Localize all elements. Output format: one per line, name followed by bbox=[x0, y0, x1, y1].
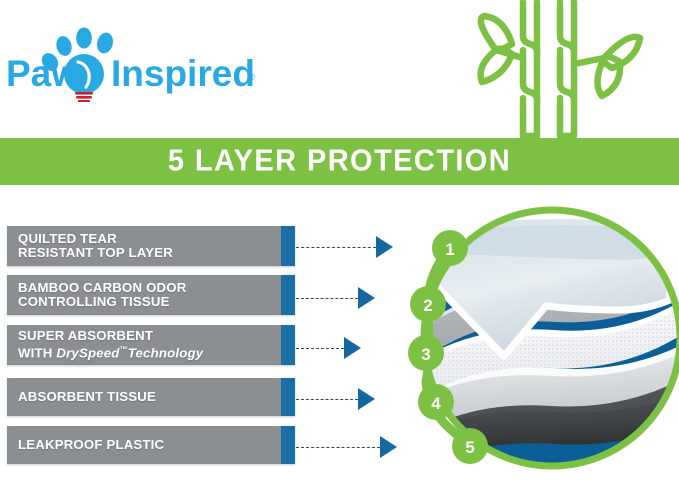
layer-label-bar-5[interactable]: LEAKPROOF PLASTIC bbox=[7, 426, 295, 464]
layer-badge-number-4: 4 bbox=[431, 394, 441, 413]
layer-label-row-1: QUILTED TEAR RESISTANT TOP LAYER bbox=[7, 226, 295, 266]
layer-label-bar-3[interactable]: SUPER ABSORBENT WITH DrySpeed™Technology bbox=[7, 325, 295, 365]
layer-label-row-4: ABSORBENT TISSUE bbox=[7, 378, 295, 416]
five-layer-cross-section: 1 2 3 4 5 bbox=[404, 196, 679, 487]
infographic-root: Paw Inspired ® bbox=[0, 0, 679, 487]
layer-label-line1-5: LEAKPROOF PLASTIC bbox=[18, 437, 164, 452]
connector-arrow-4 bbox=[358, 388, 375, 410]
layer-badge-5[interactable]: 5 bbox=[452, 428, 488, 464]
layer-label-line1-2: BAMBOO CARBON ODOR bbox=[18, 280, 186, 295]
layer-label-line2-2: CONTROLLING TISSUE bbox=[18, 294, 170, 309]
layer-badge-4[interactable]: 4 bbox=[418, 384, 454, 420]
layer-label-bar-1[interactable]: QUILTED TEAR RESISTANT TOP LAYER bbox=[7, 226, 295, 266]
connector-dash-5 bbox=[296, 447, 380, 448]
layer-badge-3[interactable]: 3 bbox=[408, 335, 444, 371]
layer-bar-accent-1 bbox=[281, 226, 295, 266]
connector-arrow-3 bbox=[344, 337, 361, 359]
layer-bar-accent-3 bbox=[281, 325, 295, 365]
layer-badge-number-3: 3 bbox=[421, 345, 430, 364]
layer-bar-accent-5 bbox=[281, 426, 295, 464]
layer-label-text-3: SUPER ABSORBENT WITH DrySpeed™Technology bbox=[7, 329, 203, 361]
layer-bar-accent-4 bbox=[281, 378, 295, 416]
layer-badge-number-5: 5 bbox=[465, 438, 474, 457]
layer-label-text-4: ABSORBENT TISSUE bbox=[7, 390, 156, 405]
layer-label-row-5: LEAKPROOF PLASTIC bbox=[7, 426, 295, 464]
layer-label-line2-1: RESISTANT TOP LAYER bbox=[18, 245, 173, 260]
layer-label-line1-3: SUPER ABSORBENT bbox=[18, 328, 153, 343]
connector-arrow-2 bbox=[358, 287, 375, 309]
layer-label-text-1: QUILTED TEAR RESISTANT TOP LAYER bbox=[7, 232, 173, 261]
layer-label-line1-1: QUILTED TEAR bbox=[18, 231, 117, 246]
layer-badge-2[interactable]: 2 bbox=[410, 286, 446, 322]
layer-badge-1[interactable]: 1 bbox=[432, 230, 468, 266]
layer-label-tail-3: Technology bbox=[128, 346, 204, 361]
layer-label-line2-3: WITH bbox=[18, 346, 56, 361]
layer-label-text-2: BAMBOO CARBON ODOR CONTROLLING TISSUE bbox=[7, 281, 186, 310]
connector-arrow-5 bbox=[380, 436, 397, 458]
connector-dash-1 bbox=[296, 247, 376, 248]
layer-label-row-3: SUPER ABSORBENT WITH DrySpeed™Technology bbox=[7, 325, 295, 365]
layer-label-line1-4: ABSORBENT TISSUE bbox=[18, 389, 156, 404]
layer-label-row-2: BAMBOO CARBON ODOR CONTROLLING TISSUE bbox=[7, 275, 295, 315]
connector-dash-2 bbox=[296, 298, 358, 299]
layer-label-text-5: LEAKPROOF PLASTIC bbox=[7, 438, 164, 453]
trademark-symbol-3: ™ bbox=[120, 345, 128, 354]
connector-arrow-1 bbox=[376, 236, 393, 258]
layer-badge-number-1: 1 bbox=[445, 240, 454, 259]
connector-dash-3 bbox=[296, 348, 344, 349]
bamboo-icon bbox=[468, 0, 668, 140]
layer-label-bar-2[interactable]: BAMBOO CARBON ODOR CONTROLLING TISSUE bbox=[7, 275, 295, 315]
connector-dash-4 bbox=[296, 399, 358, 400]
layer-label-bar-4[interactable]: ABSORBENT TISSUE bbox=[7, 378, 295, 416]
layer-label-list: QUILTED TEAR RESISTANT TOP LAYER BAMBOO … bbox=[0, 0, 420, 487]
layer-label-brand-3: DrySpeed bbox=[56, 346, 119, 361]
layer-bar-accent-2 bbox=[281, 275, 295, 315]
layer-badge-number-2: 2 bbox=[423, 296, 432, 315]
